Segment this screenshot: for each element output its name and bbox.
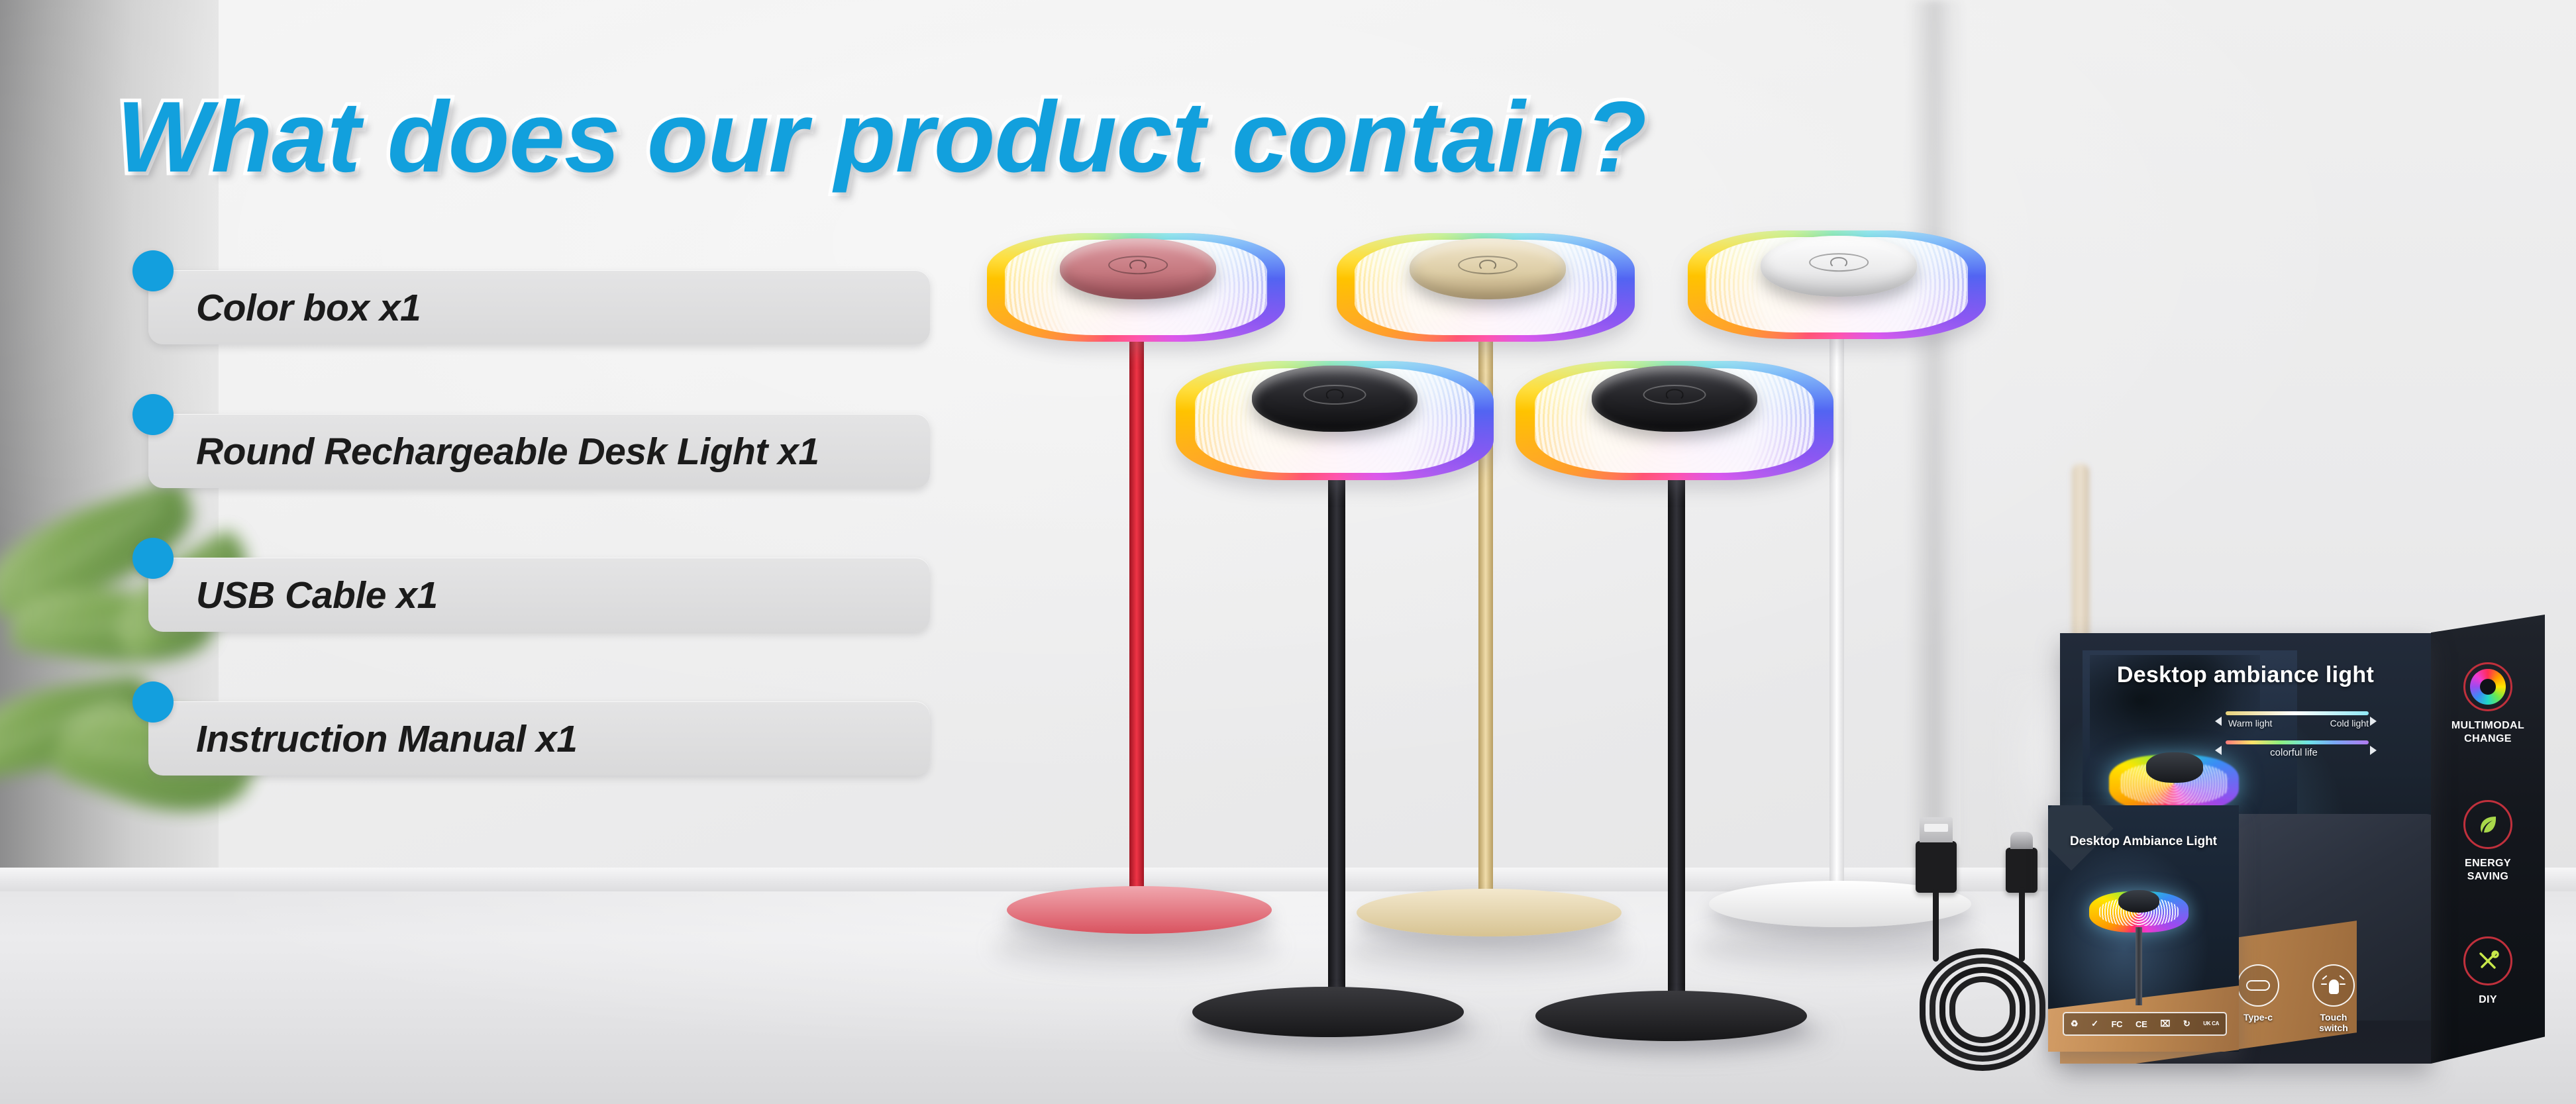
lamp-stem [1328,437,1345,1033]
list-item[interactable]: Instruction Manual x1 [132,681,927,771]
tools-icon [2463,936,2512,985]
side-feature-label-line2: CHANGE [2464,733,2512,744]
bullet-dot-icon [132,394,174,435]
side-feature-diy: DIY [2431,936,2545,1007]
arrow-right-icon [2370,717,2377,726]
list-item-label: Color box x1 [196,286,421,330]
list-item-label: Round Rechargeable Desk Light x1 [196,430,819,474]
lamp-base [1192,987,1464,1037]
manual-product-title: Desktop Ambiance Light [2048,834,2239,849]
usb-a-connector [1916,841,1957,893]
recycle-arrow-icon: ↻ [2183,1019,2190,1029]
side-feature-label-line1: DIY [2479,994,2497,1005]
ukca-icon: UK CA [2203,1021,2219,1027]
cable-lead [1933,889,1939,962]
lamp-stem [1129,311,1144,907]
manual-artwork-lamp [2089,891,2189,1017]
side-feature-label-line1: ENERGY [2465,858,2511,869]
instruction-manual-booklet[interactable]: Desktop Ambiance Light ♻ ✓ FC CE ⌧ ↻ UK … [2048,805,2239,1052]
manual-lamp-cap [2118,890,2159,913]
bullet-dot-icon [132,538,174,579]
side-feature-label-line2: SAVING [2467,871,2509,882]
list-item-label: USB Cable x1 [196,574,438,617]
certification-badges: ♻ ✓ FC CE ⌧ ↻ UK CA [2063,1012,2227,1036]
cold-light-label: Cold light [2330,718,2369,728]
fcc-icon: FC [2111,1019,2122,1029]
badge-touch-switch: Touch switch [2305,964,2362,1033]
usb-c-metal-tip [2010,832,2033,849]
list-item[interactable]: USB Cable x1 [132,538,927,627]
leaf-icon [2463,800,2512,849]
touch-hand-icon [2312,964,2355,1007]
box-product-title: Desktop ambiance light [2060,662,2431,688]
bullet-dot-icon [132,250,174,291]
lamp-cap[interactable] [1410,238,1566,299]
arrow-right-icon [2370,746,2377,755]
power-touch-button-icon[interactable] [1304,385,1366,405]
lamp-shadow [1345,930,1629,970]
retail-packaging[interactable]: MULTIMODAL CHANGE ENERGY SAVING DIY [2060,615,2576,1098]
lamp-cap[interactable] [1761,236,1917,297]
box-side-panel: MULTIMODAL CHANGE ENERGY SAVING DIY [2431,615,2545,1064]
list-item[interactable]: Color box x1 [132,250,927,340]
warm-cold-bar [2226,711,2369,715]
package-contents-list: Color box x1 Round Rechargeable Desk Lig… [132,250,927,825]
colorful-life-label: colorful life [2219,747,2369,758]
page-title: What does our product contain? [117,79,1646,195]
rgb-ring-icon [2463,662,2512,711]
cable-lead [2019,887,2025,962]
arrow-left-icon [2215,717,2222,726]
warm-light-label: Warm light [2228,718,2272,728]
lamp-cap[interactable] [1252,366,1417,432]
usb-a-metal-tip [1920,817,1953,842]
side-feature-multimodal: MULTIMODAL CHANGE [2431,662,2545,746]
manual-lamp-stem [2136,927,2142,1005]
weee-bin-icon: ⌧ [2160,1019,2170,1029]
lamp-base [1535,991,1807,1041]
rohs-check-icon: ✓ [2091,1019,2098,1029]
ce-icon: CE [2136,1019,2147,1029]
power-touch-button-icon[interactable] [1643,385,1706,405]
side-feature-label-line1: MULTIMODAL [2451,720,2524,731]
power-touch-button-icon[interactable] [1809,254,1869,272]
power-touch-button-icon[interactable] [1108,256,1168,275]
list-item[interactable]: Round Rechargeable Desk Light x1 [132,394,927,483]
side-feature-energy-saving: ENERGY SAVING [2431,800,2545,883]
lamp-base [1007,886,1272,934]
lamp-base [1357,889,1622,936]
usb-cable[interactable] [1908,816,2060,1081]
usb-c-connector [2006,848,2037,893]
rainbow-bar [2226,740,2369,744]
lamp-stem [1668,437,1685,1036]
list-item-label: Instruction Manual x1 [196,717,577,761]
power-touch-button-icon[interactable] [1458,256,1518,275]
recycle-icon: ♻ [2071,1019,2078,1029]
bullet-dot-icon [132,681,174,723]
lamp-cap[interactable] [1060,238,1216,299]
box-lamp-cap [2146,752,2203,783]
badge-label: Touch switch [2305,1012,2362,1033]
lamp-cap[interactable] [1592,366,1757,432]
cable-coil [1949,976,2016,1043]
usb-c-port-icon [2237,964,2279,1007]
